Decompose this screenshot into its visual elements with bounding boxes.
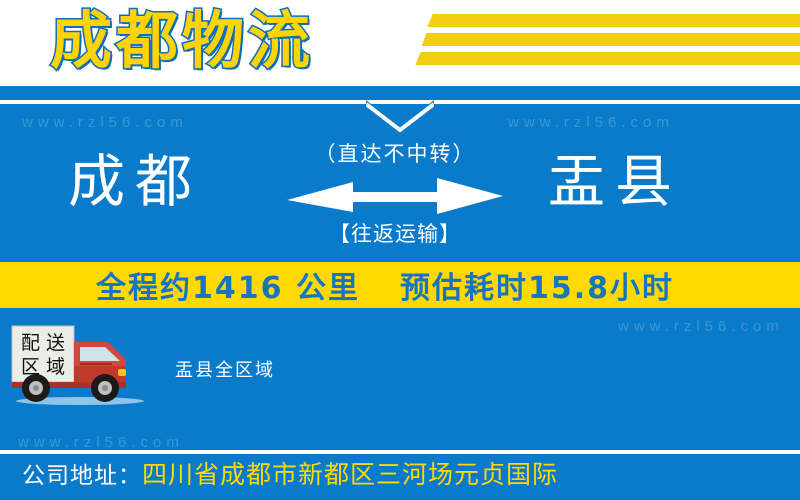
address-label: 公司地址： bbox=[22, 463, 142, 489]
coverage-label: 盂县全区域 bbox=[175, 356, 275, 382]
route-section: 成都 （直达不中转） 【往返运输】 盂县 bbox=[0, 138, 800, 256]
banner-header: 成都物流 bbox=[0, 0, 800, 86]
watermark: www.rzl56.com bbox=[18, 434, 184, 451]
duration-text: 预估耗时15.8小时 bbox=[400, 263, 674, 307]
truck-box-line1: 配 送 bbox=[21, 332, 65, 354]
truck-box-line2: 区 域 bbox=[21, 356, 65, 378]
watermark: www.rzl56.com bbox=[508, 114, 674, 131]
divider-bottom bbox=[0, 450, 800, 454]
route-origin: 成都 bbox=[68, 154, 202, 211]
route-destination: 盂县 bbox=[548, 154, 682, 211]
footer-address: 公司地址：四川省成都市新都区三河场元贞国际 bbox=[22, 462, 558, 488]
brand-title: 成都物流 bbox=[50, 5, 314, 76]
info-bar: 全程约1416 公里 预估耗时15.8小时 bbox=[0, 262, 800, 308]
logistics-banner: 成都物流 www.rzl56.com www.rzl56.com www.rzl… bbox=[0, 0, 800, 500]
delivery-truck-icon: 配 送 区 域 bbox=[8, 324, 160, 406]
chevron-down-icon bbox=[366, 98, 434, 132]
banner-body: www.rzl56.com www.rzl56.com www.rzl56.co… bbox=[0, 86, 800, 500]
route-middle: （直达不中转） 【往返运输】 bbox=[270, 138, 520, 248]
route-note-bottom: 【往返运输】 bbox=[270, 218, 520, 248]
bidirectional-arrow-icon bbox=[285, 174, 505, 216]
distance-text: 全程约1416 公里 bbox=[96, 263, 360, 307]
coverage-section: 配 送 区 域 盂县全区域 bbox=[0, 324, 800, 414]
address-value: 四川省成都市新都区三河场元贞国际 bbox=[142, 460, 558, 489]
decorative-stripe-1 bbox=[427, 14, 800, 27]
route-note-top: （直达不中转） bbox=[270, 138, 520, 168]
watermark: www.rzl56.com bbox=[22, 114, 188, 131]
decorative-stripe-3 bbox=[415, 52, 800, 65]
decorative-stripe-2 bbox=[421, 33, 800, 46]
